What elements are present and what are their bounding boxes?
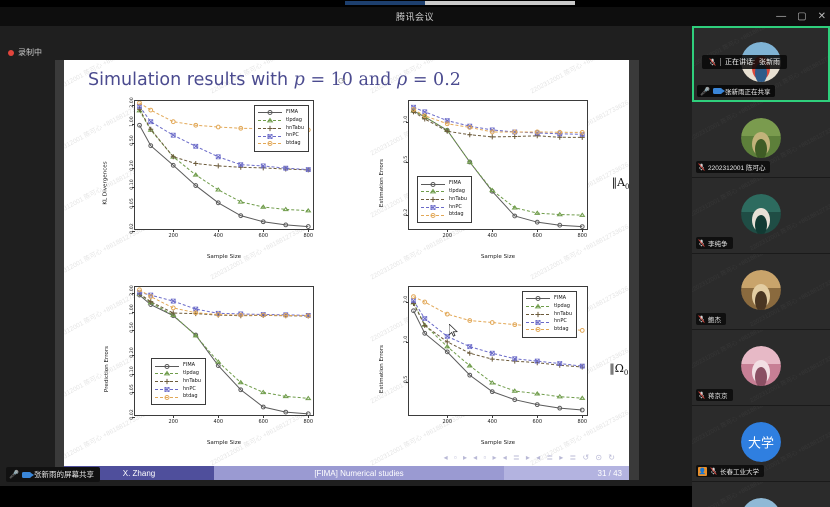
legend-label: tlpdag — [183, 370, 199, 378]
y-axis-tick-mark — [132, 417, 135, 418]
legend-label: hnTabu — [183, 378, 201, 386]
presentation-slide: 2202312001 陈可心 +86188127336262202312001 … — [64, 60, 629, 480]
legend-marker-icon — [155, 370, 179, 377]
y-axis-tick-label: 0.50 — [130, 323, 135, 333]
legend-marker-icon — [421, 204, 445, 211]
chart-legend: FIMAtlpdaghnTabuhnPCbtdag — [254, 105, 309, 152]
legend-label: btdag — [554, 326, 569, 334]
legend-label: tlpdag — [554, 303, 570, 311]
microphone-icon: 🎤 — [9, 470, 19, 479]
y-axis-tick-mark — [406, 162, 409, 163]
legend-row: hnTabu — [155, 378, 201, 386]
y-axis-tick-label: 1.00 — [130, 116, 135, 126]
mic-muted-icon — [698, 163, 705, 171]
participant-name-chip: 2202312001 陈可心 — [696, 161, 770, 173]
mic-muted-icon — [698, 239, 705, 247]
legend-label: hnTabu — [286, 125, 304, 133]
x-axis-tick-mark — [582, 229, 583, 232]
x-axis-tick-label: 400 — [213, 233, 223, 239]
y-axis-tick-label: 0.05 — [130, 198, 135, 208]
x-axis-tick-mark — [173, 229, 174, 232]
top-progress-strip — [0, 0, 830, 7]
x-axis-tick-label: 200 — [168, 419, 178, 425]
x-axis-tick-mark — [218, 229, 219, 232]
legend-row: btdag — [421, 211, 467, 219]
x-axis-tick-mark — [447, 229, 448, 232]
share-status-label: 张新雨的屏幕共享 — [34, 469, 94, 480]
legend-label: FIMA — [183, 362, 195, 370]
y-axis-tick-label: 1.00 — [130, 304, 135, 314]
speaking-indicator: 正在讲话:张新雨 — [702, 55, 787, 69]
x-axis-tick-mark — [173, 415, 174, 418]
y-axis-tick-label: 2.00 — [130, 97, 135, 107]
legend-marker-icon — [526, 295, 550, 302]
participant-tile[interactable]: 2202312001 陈可心 +86188127336262202312001 … — [692, 330, 830, 406]
legend-row: FIMA — [421, 180, 467, 188]
norm-annotation: ‖A0 − Â‖F — [612, 176, 629, 191]
legend-marker-icon — [258, 133, 282, 140]
y-axis-tick-label: 0.10 — [130, 366, 135, 376]
y-axis-tick-mark — [132, 187, 135, 188]
slide-footer: X. Zhang [FIMA] Numerical studies 31 / 4… — [64, 466, 629, 480]
x-axis-tick-label: 600 — [258, 233, 268, 239]
legend-marker-icon — [526, 326, 550, 333]
loading-spinner-icon: ⟳ — [338, 76, 346, 87]
avatar — [741, 346, 781, 386]
legend-row: FIMA — [526, 295, 572, 303]
y-axis-tick-mark — [406, 215, 409, 216]
recording-label: 录制中 — [18, 47, 42, 58]
participant-name: 蒋京京 — [708, 390, 728, 400]
x-axis-tick-label: 200 — [168, 233, 178, 239]
x-axis-tick-label: 600 — [258, 419, 268, 425]
x-axis-tick-label: 200 — [442, 233, 452, 239]
participant-tile[interactable]: 2202312001 陈可心 +86188127336262202312001 … — [692, 254, 830, 330]
slide-title-eq2: = 0.2 — [407, 70, 461, 90]
y-axis-tick-mark — [132, 124, 135, 125]
minimize-icon[interactable]: — — [776, 12, 786, 22]
chart-estimation-errors-A: 0.20.51.0200400600800FIMAtlpdaghnTabuhnP… — [356, 90, 618, 276]
camera-icon — [713, 88, 722, 94]
participant-name-chip: 李纯争 — [696, 237, 733, 249]
legend-row: hnPC — [526, 318, 572, 326]
x-axis-tick-mark — [263, 229, 264, 232]
x-axis-tick-mark — [447, 415, 448, 418]
legend-row: FIMA — [258, 109, 304, 117]
legend-label: tlpdag — [449, 188, 465, 196]
x-axis-tick-label: 800 — [577, 233, 587, 239]
mic-muted-icon — [710, 467, 717, 475]
y-axis-tick-label: 0.10 — [130, 179, 135, 189]
participant-name: 李纯争 — [708, 238, 728, 248]
legend-marker-icon — [258, 109, 282, 116]
progress-fill — [345, 1, 425, 5]
legend-row: tlpdag — [421, 188, 467, 196]
x-axis-tick-label: 800 — [303, 233, 313, 239]
legend-marker-icon — [421, 212, 445, 219]
legend-label: hnPC — [449, 204, 462, 212]
legend-row: btdag — [526, 326, 572, 334]
x-axis-label: Sample Size — [408, 254, 588, 260]
tencent-meeting-window: 腾讯会议 — ▢ ✕ 录制中 2202312001 陈可心 +861881273… — [0, 0, 830, 507]
y-axis-tick-label: 0.02 — [130, 223, 135, 233]
legend-marker-icon — [258, 117, 282, 124]
avatar — [741, 270, 781, 310]
y-axis-tick-mark — [132, 206, 135, 207]
x-axis-tick-mark — [492, 229, 493, 232]
chart-legend: FIMAtlpdaghnTabuhnPCbtdag — [522, 291, 577, 338]
legend-row: hnPC — [421, 204, 467, 212]
speaking-name: 张新雨 — [759, 57, 780, 67]
avatar: 大学 — [741, 422, 781, 462]
svg-text:大学: 大学 — [748, 435, 774, 451]
x-axis-tick-mark — [308, 229, 309, 232]
beamer-nav-symbols[interactable]: ◂ ▫ ▸ ◂ ▫ ▸ ◂ ≣ ▸ ◂ ≣ ▸ ≣ ↺ ⊙ ↻ — [444, 453, 617, 462]
chart-prediction-errors: 0.020.050.100.200.501.002.00200400600800… — [82, 276, 344, 462]
legend-label: btdag — [183, 393, 198, 401]
legend-row: hnPC — [258, 132, 304, 140]
slide-title-eq1: = 10 and — [305, 70, 397, 90]
legend-marker-icon — [155, 363, 179, 370]
recording-indicator: 录制中 — [8, 47, 42, 58]
avatar — [741, 498, 781, 507]
legend-marker-icon — [258, 125, 282, 132]
close-icon[interactable]: ✕ — [818, 12, 826, 22]
footer-section: [FIMA] Numerical studies — [214, 466, 504, 480]
legend-marker-icon — [526, 319, 550, 326]
footer-page-number: 31 / 43 — [504, 466, 629, 480]
chart-grid: 0.020.050.100.200.501.002.00200400600800… — [64, 90, 629, 462]
y-axis-tick-mark — [132, 355, 135, 356]
record-dot-icon — [8, 50, 14, 56]
slide-edge-left — [55, 60, 64, 480]
y-axis-tick-label: 0.50 — [130, 135, 135, 145]
legend-marker-icon — [155, 378, 179, 385]
y-axis-tick-mark — [132, 293, 135, 294]
y-axis-tick-mark — [132, 143, 135, 144]
x-axis-tick-mark — [263, 415, 264, 418]
slide-title-prefix: Simulation results with — [88, 70, 294, 90]
y-axis-tick-mark — [132, 105, 135, 106]
mic-muted-icon — [709, 58, 716, 66]
legend-marker-icon — [421, 196, 445, 203]
window-controls: — ▢ ✕ — [776, 7, 826, 26]
y-axis-tick-mark — [132, 392, 135, 393]
y-axis-tick-mark — [406, 342, 409, 343]
participant-name-chip: 👤长春工业大学 — [696, 465, 764, 477]
window-title: 腾讯会议 — [396, 10, 434, 23]
maximize-icon[interactable]: ▢ — [797, 12, 806, 22]
chart-estimation-errors-omega: 0.51.02.0200400600800FIMAtlpdaghnTabuhnP… — [356, 276, 618, 462]
legend-row: hnTabu — [421, 196, 467, 204]
avatar — [741, 118, 781, 158]
participant-name: 长春工业大学 — [720, 466, 759, 476]
x-axis-tick-label: 400 — [487, 419, 497, 425]
share-status-chip: 🎤 张新雨的屏幕共享 — [6, 467, 100, 482]
y-axis-tick-mark — [132, 330, 135, 331]
x-axis-tick-mark — [582, 415, 583, 418]
chart-legend: FIMAtlpdaghnTabuhnPCbtdag — [151, 358, 206, 405]
norm-annotation: ‖Ω0 − Ω̂‖F — [609, 362, 629, 377]
microphone-icon: 🎤 — [700, 87, 710, 96]
host-icon: 👤 — [698, 467, 707, 476]
participant-rail[interactable]: 2202312001 陈可心 +86188127336262202312001 … — [692, 26, 830, 507]
y-axis-label: Estimation Errors — [379, 345, 385, 393]
plot-area: 0.20.51.0200400600800FIMAtlpdaghnTabuhnP… — [408, 100, 588, 230]
screen-share-stage: 录制中 2202312001 陈可心 +86188127336262202312… — [0, 26, 692, 486]
legend-marker-icon — [421, 181, 445, 188]
sharing-indicator: 🎤张新雨正在共享 — [697, 85, 775, 97]
legend-row: btdag — [155, 393, 201, 401]
chart-kl-divergences: 0.020.050.100.200.501.002.00200400600800… — [82, 90, 344, 276]
speaking-prefix: 正在讲话: — [725, 57, 755, 67]
camera-icon — [22, 472, 31, 478]
participant-tile[interactable]: 2202312001 陈可心 +86188127336262202312001 … — [692, 26, 830, 102]
window-titlebar: 腾讯会议 — [0, 7, 830, 26]
y-axis-tick-label: 0.05 — [130, 385, 135, 395]
x-axis-tick-label: 600 — [532, 419, 542, 425]
slide-title-p: p — [294, 70, 305, 90]
participant-tile[interactable]: 2202312001 陈可心 +86188127336262202312001 … — [692, 482, 830, 507]
slide-title: Simulation results with p = 10 and ρ = 0… — [88, 70, 461, 90]
x-axis-tick-label: 800 — [577, 419, 587, 425]
y-axis-label: Prediction Errors — [104, 346, 110, 392]
plot-area: 0.020.050.100.200.501.002.00200400600800… — [134, 100, 314, 230]
x-axis-tick-label: 400 — [487, 233, 497, 239]
legend-marker-icon — [526, 311, 550, 318]
x-axis-tick-mark — [492, 415, 493, 418]
x-axis-tick-mark — [537, 415, 538, 418]
plot-area: 0.51.02.0200400600800FIMAtlpdaghnTabuhnP… — [408, 286, 588, 416]
legend-label: hnTabu — [449, 196, 467, 204]
legend-marker-icon — [155, 394, 179, 401]
legend-label: FIMA — [449, 180, 461, 188]
legend-label: hnPC — [554, 318, 567, 326]
y-axis-tick-mark — [406, 122, 409, 123]
avatar — [741, 194, 781, 234]
legend-label: btdag — [286, 140, 301, 148]
x-axis-tick-mark — [537, 229, 538, 232]
participant-tile[interactable]: 2202312001 陈可心 +86188127336262202312001 … — [692, 406, 830, 482]
y-axis-tick-mark — [406, 302, 409, 303]
y-axis-tick-mark — [132, 374, 135, 375]
x-axis-tick-mark — [218, 415, 219, 418]
legend-label: btdag — [449, 211, 464, 219]
x-axis-label: Sample Size — [134, 254, 314, 260]
y-axis-tick-label: 2.00 — [130, 285, 135, 295]
legend-row: hnTabu — [258, 125, 304, 133]
x-axis-tick-label: 400 — [213, 419, 223, 425]
legend-marker-icon — [258, 140, 282, 147]
y-axis-tick-mark — [132, 312, 135, 313]
slide-edge-right — [629, 60, 639, 480]
y-axis-tick-label: 0.20 — [130, 347, 135, 357]
y-axis-tick-label: 0.02 — [130, 409, 135, 419]
participant-name-chip: 鲍杰 — [696, 313, 726, 325]
legend-row: tlpdag — [526, 303, 572, 311]
x-axis-tick-label: 800 — [303, 419, 313, 425]
x-axis-tick-mark — [308, 415, 309, 418]
participant-tile[interactable]: 2202312001 陈可心 +86188127336262202312001 … — [692, 178, 830, 254]
participant-name: 2202312001 陈可心 — [708, 162, 765, 172]
plot-area: 0.020.050.100.200.501.002.00200400600800… — [134, 286, 314, 416]
legend-label: hnPC — [183, 386, 196, 394]
x-axis-tick-label: 200 — [442, 419, 452, 425]
y-axis-tick-mark — [132, 168, 135, 169]
x-axis-label: Sample Size — [408, 440, 588, 446]
sharing-label: 张新雨正在共享 — [725, 86, 771, 96]
legend-row: hnTabu — [526, 311, 572, 319]
y-axis-label: KL Divergences — [103, 161, 109, 204]
participant-tile[interactable]: 2202312001 陈可心 +86188127336262202312001 … — [692, 102, 830, 178]
x-axis-label: Sample Size — [134, 440, 314, 446]
legend-label: FIMA — [286, 109, 298, 117]
slide-title-rho: ρ — [397, 70, 407, 90]
chart-legend: FIMAtlpdaghnTabuhnPCbtdag — [417, 176, 472, 223]
mic-muted-icon — [698, 315, 705, 323]
legend-label: hnTabu — [554, 311, 572, 319]
legend-row: tlpdag — [258, 117, 304, 125]
legend-row: hnPC — [155, 386, 201, 394]
legend-label: tlpdag — [286, 117, 302, 125]
participant-name: 鲍杰 — [708, 314, 721, 324]
y-axis-label: Estimation Errors — [379, 159, 385, 207]
legend-row: tlpdag — [155, 370, 201, 378]
legend-label: hnPC — [286, 132, 299, 140]
y-axis-tick-mark — [132, 231, 135, 232]
legend-row: FIMA — [155, 362, 201, 370]
mic-muted-icon — [698, 391, 705, 399]
legend-marker-icon — [421, 188, 445, 195]
legend-label: FIMA — [554, 295, 566, 303]
y-axis-tick-label: 0.20 — [130, 160, 135, 170]
y-axis-tick-mark — [406, 382, 409, 383]
legend-marker-icon — [155, 386, 179, 393]
participant-name-chip: 蒋京京 — [696, 389, 733, 401]
legend-row: btdag — [258, 140, 304, 148]
legend-marker-icon — [526, 303, 550, 310]
x-axis-tick-label: 600 — [532, 233, 542, 239]
chip-divider — [720, 58, 721, 66]
